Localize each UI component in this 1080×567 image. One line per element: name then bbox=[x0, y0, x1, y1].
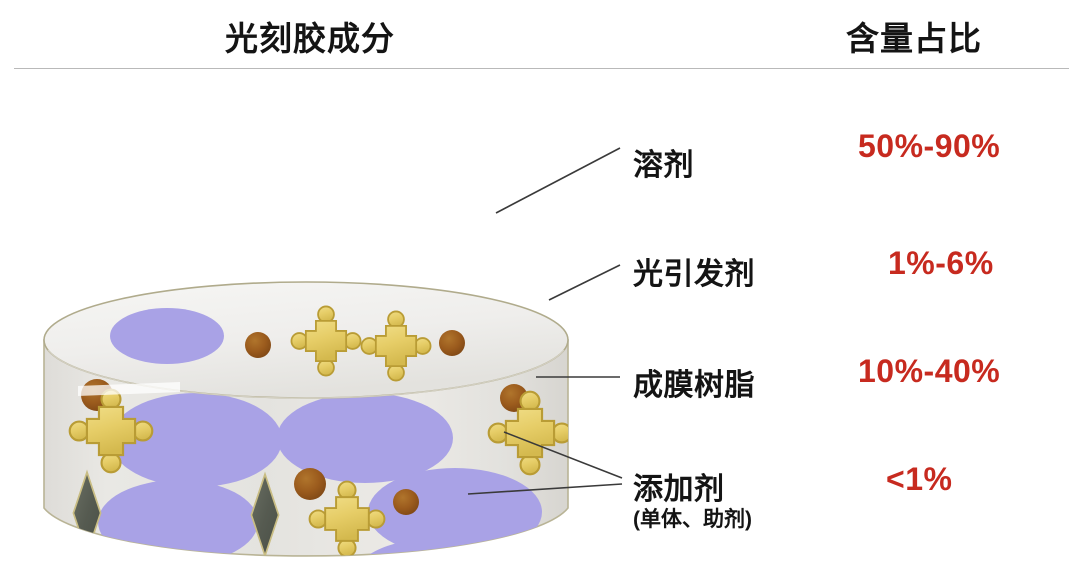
component-value-solvent: 50%-90% bbox=[858, 128, 1000, 165]
component-label-resin: 成膜树脂 bbox=[633, 360, 755, 404]
component-label-solvent: 溶剂 bbox=[633, 140, 694, 184]
ratio-column-title: 含量占比 bbox=[846, 12, 982, 60]
component-label-additive: 添加剂 bbox=[633, 464, 725, 508]
component-sublabel-additive: (单体、助剂) bbox=[633, 503, 752, 533]
component-value-initiator: 1%-6% bbox=[888, 245, 994, 282]
photoresist-cylinder-diagram bbox=[0, 140, 620, 560]
page-title: 光刻胶成分 bbox=[225, 12, 395, 60]
component-label-initiator: 光引发剂 bbox=[633, 249, 755, 293]
component-value-resin: 10%-40% bbox=[858, 353, 1000, 390]
component-value-additive: <1% bbox=[886, 461, 952, 498]
header-divider bbox=[14, 68, 1069, 69]
